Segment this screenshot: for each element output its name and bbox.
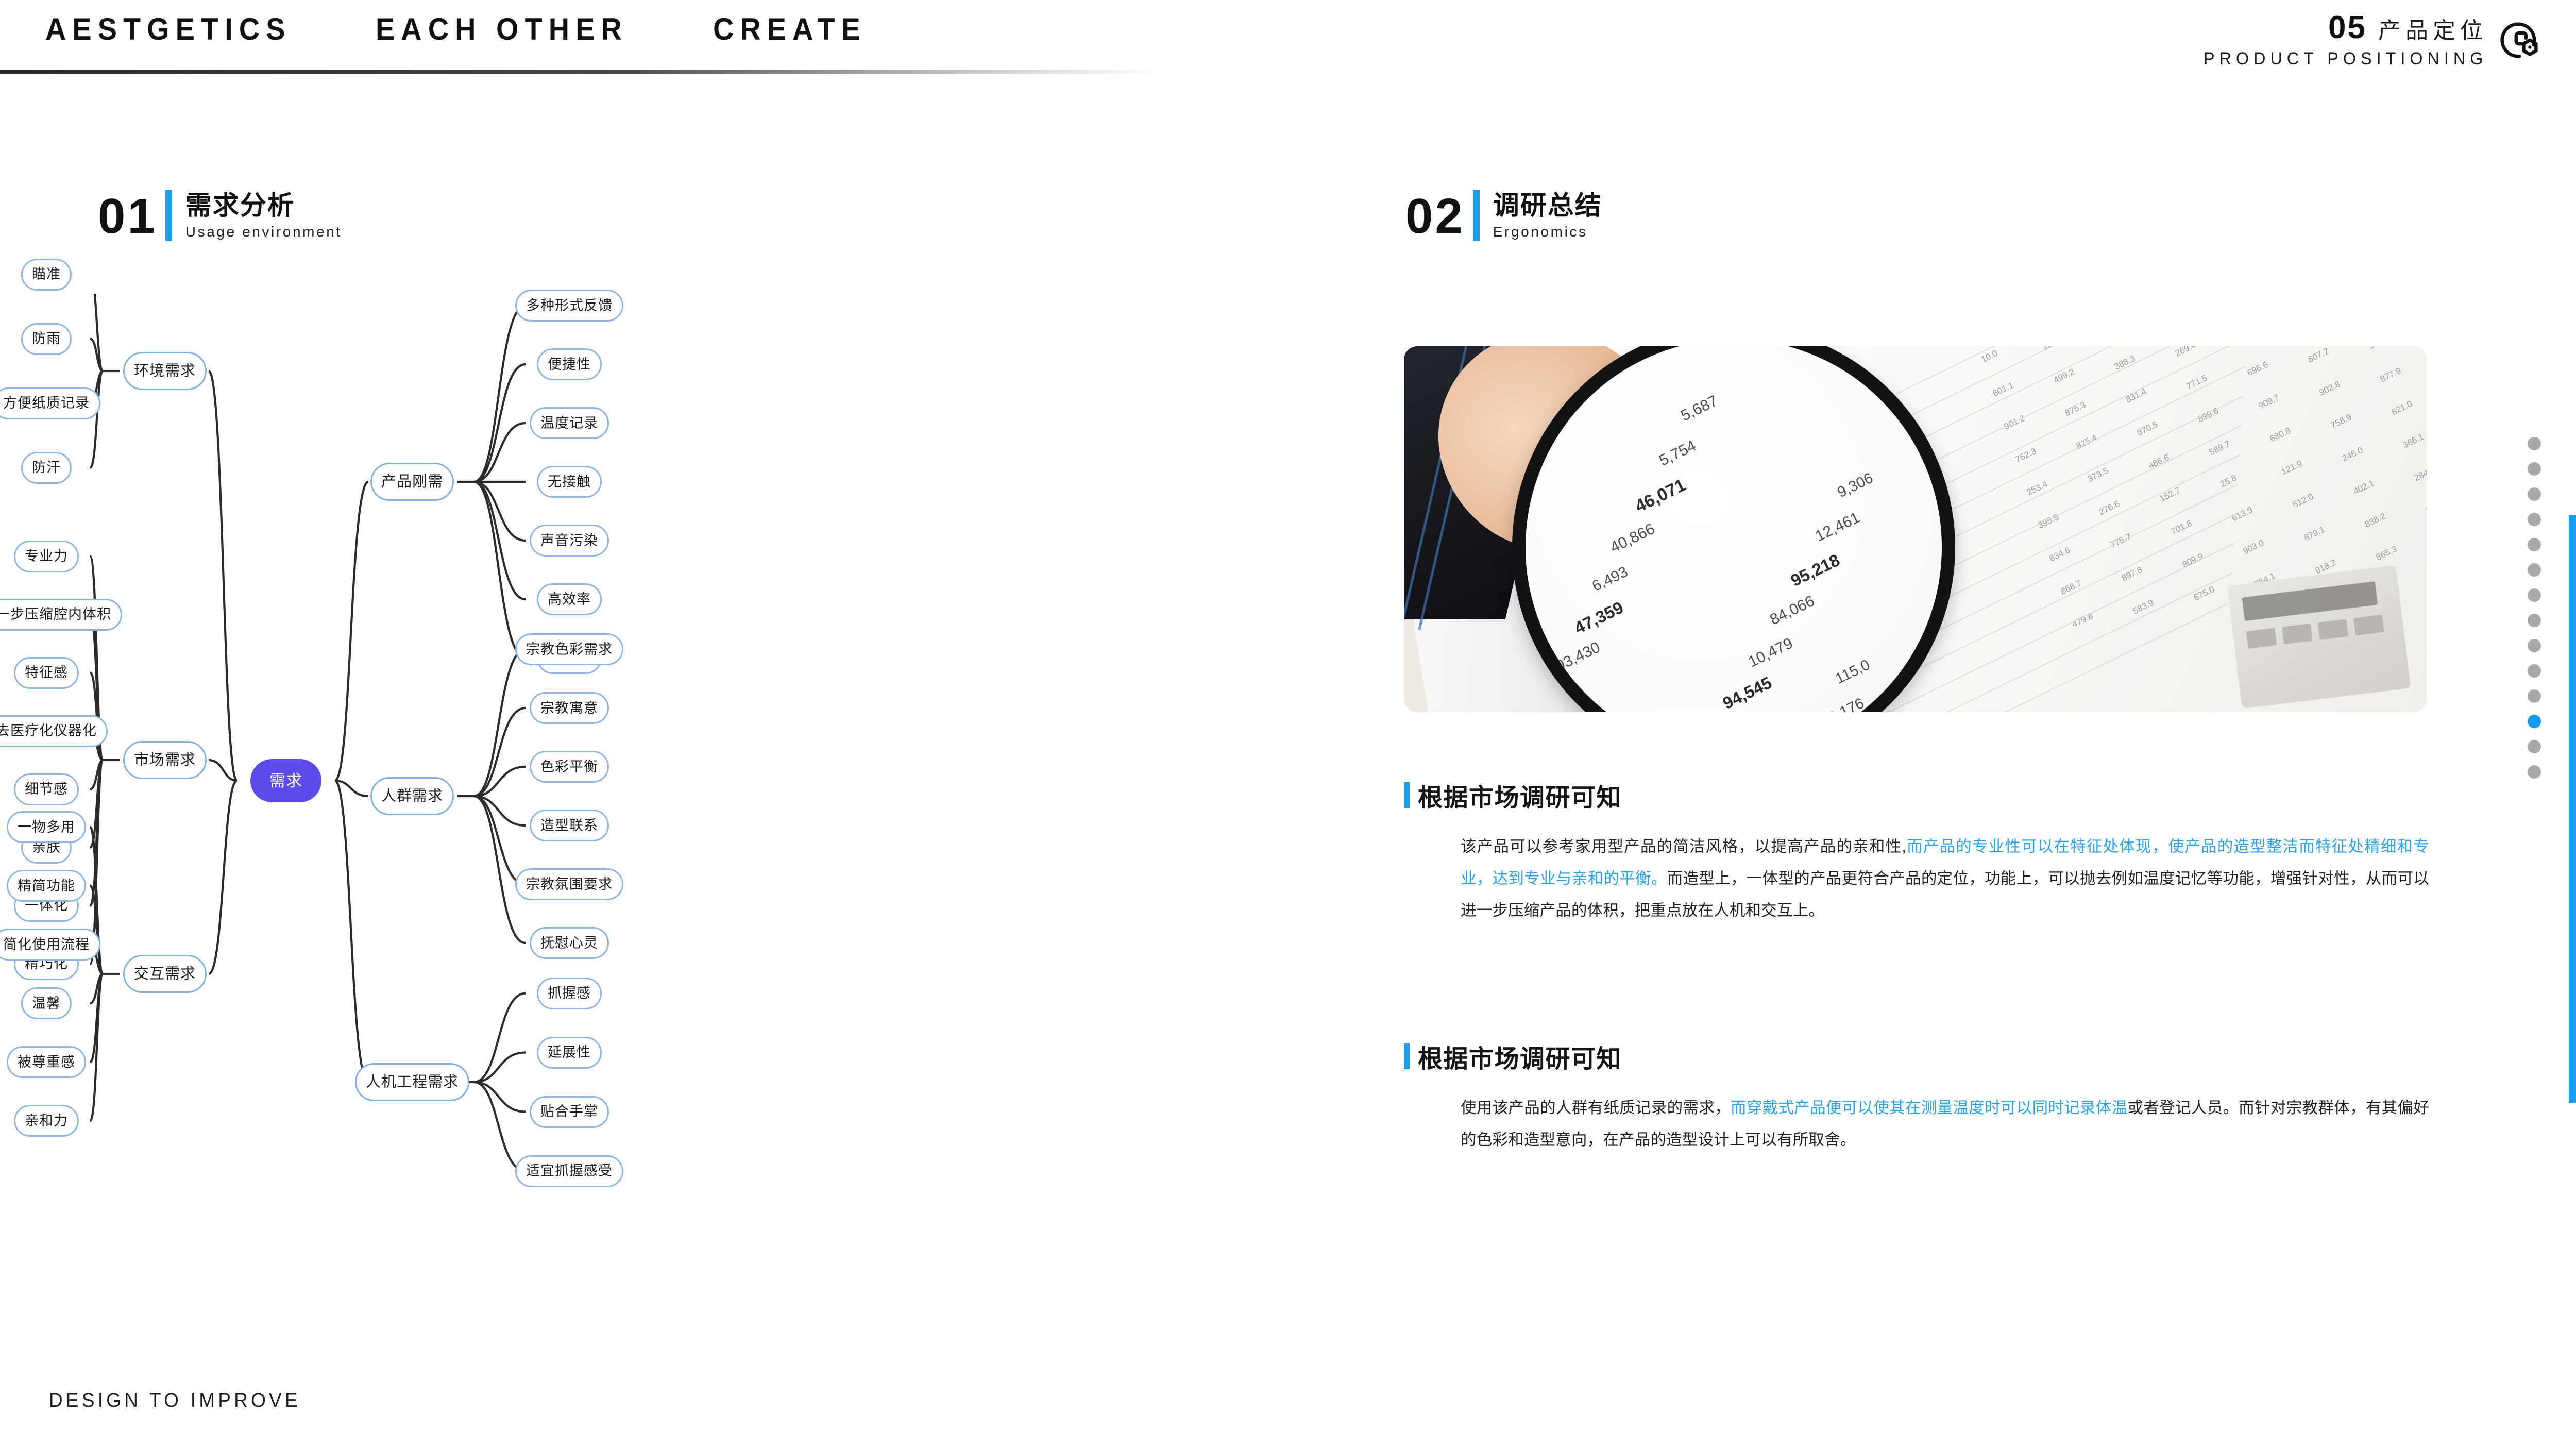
analysis-text-part: 该产品可以参考家用型产品的简洁风格，以提高产品的亲和性, [1461,838,1906,855]
footer-tagline: DESIGN TO IMPROVE [49,1390,301,1412]
mindmap-edge [474,1082,526,1171]
section-number-02: 02 [1405,190,1465,241]
mindmap-leaf-1-2[interactable]: 防雨 [21,323,72,355]
mindmap-leaf-6-3[interactable]: 贴合手掌 [530,1096,609,1128]
section-title-en-02: Ergonomics [1493,224,1602,240]
mindmap-leaf-6-2[interactable]: 延展性 [537,1037,602,1069]
mindmap-leaf-2-1[interactable]: 专业力 [14,541,79,572]
analysis-heading-2: 根据市场调研可知 [1404,1038,2429,1074]
photo-calculator [2227,565,2411,709]
mindmap-leaf-4-2[interactable]: 便捷性 [537,348,602,380]
section-header-02: 02 调研总结 Ergonomics [1405,190,1602,241]
nav-dot[interactable] [2528,664,2541,678]
photo-calculator-key [2318,619,2349,640]
photo-content: 10.0137.1261.2380.3492.4595.5685.6601.14… [1404,346,2427,712]
mindmap-leaf-4-5[interactable]: 声音污染 [530,525,609,557]
requirements-mindmap: 需求环境需求瞄准防雨方便纸质记录防汗市场需求专业力进一步压缩腔内体积特征感去医疗… [72,294,1309,1299]
mindmap-edge [474,482,526,658]
photo-number: 10,479 [1745,635,1795,671]
analysis-accent-bar-2 [1404,1043,1410,1069]
nav-dot[interactable] [2528,437,2541,450]
section-header-01: 01 需求分析 Usage environment [98,190,342,241]
photo-number: 40,866 [1607,520,1657,557]
mindmap-branch-3[interactable]: 交互需求 [123,955,207,993]
research-photo: 10.0137.1261.2380.3492.4595.5685.6601.14… [1404,346,2427,712]
brand-words: AESTGETICS EACH OTHER CREATE [45,11,878,47]
analysis-body-1: 该产品可以参考家用型产品的简洁风格，以提高产品的亲和性,而产品的专业性可以在特征… [1461,831,2429,927]
nav-dot[interactable] [2528,614,2541,627]
section-accent-bar-01 [165,190,172,241]
photo-number: 6,493 [1589,564,1631,595]
mindmap-leaf-2-4[interactable]: 去医疗化仪器化 [0,715,108,747]
mindmap-leaf-4-3[interactable]: 温度记录 [530,407,609,439]
mindmap-leaf-3-5[interactable]: 被尊重感 [7,1046,86,1078]
mindmap-leaf-4-4[interactable]: 无接触 [537,466,602,498]
analysis-block-2: 根据市场调研可知 使用该产品的人群有纸质记录的需求，而穿戴式产品便可以使其在测量… [1404,1038,2429,1156]
photo-number: 115,0 [1833,656,1873,688]
mindmap-edge [209,781,237,974]
mindmap-leaf-5-6[interactable]: 抚慰心灵 [530,927,609,959]
mindmap-edge [474,482,526,541]
section-title-cn-02: 调研总结 [1493,191,1602,220]
circle-hexagon-logo-icon [2497,15,2544,63]
photo-number: 5,754 [1656,437,1699,469]
mindmap-leaf-4-6[interactable]: 高效率 [537,583,602,615]
section-title-cn-01: 需求分析 [185,191,342,220]
mindmap-leaf-5-2[interactable]: 宗教寓意 [530,692,609,724]
chapter-number: 05 [2328,9,2367,46]
nav-dot[interactable] [2528,538,2541,551]
section-number-01: 01 [98,190,157,241]
mindmap-edge [474,423,526,482]
mindmap-leaf-2-2[interactable]: 进一步压缩腔内体积 [0,599,122,631]
brand-word-3: CREATE [713,11,867,47]
vertical-scrollbar[interactable] [2569,515,2576,1103]
nav-dot[interactable] [2528,462,2541,476]
photo-number: 9,306 [1835,470,1876,501]
nav-dot[interactable] [2528,487,2541,501]
mindmap-leaf-3-1[interactable]: 一物多用 [7,811,86,843]
chapter-label: 05 产品定位 PRODUCT POSITIONING [2189,9,2487,69]
photo-number: 12,461 [1812,509,1862,546]
photo-calculator-key [2246,628,2277,649]
nav-dot[interactable] [2528,639,2541,652]
mindmap-branch-5[interactable]: 人群需求 [370,777,454,815]
photo-magnifier-lens: 5,6875,75446,07140,8666,49347,35993,4307… [1512,346,1955,712]
mindmap-edge [90,974,103,1121]
nav-dot[interactable] [2528,513,2541,526]
mindmap-branch-6[interactable]: 人机工程需求 [355,1063,469,1101]
mindmap-leaf-3-3[interactable]: 简化使用流程 [0,929,100,961]
mindmap-leaf-5-4[interactable]: 造型联系 [530,810,609,841]
mindmap-leaf-1-1[interactable]: 瞄准 [21,259,72,291]
mindmap-leaf-6-4[interactable]: 适宜抓握感受 [515,1155,623,1187]
mindmap-leaf-5-5[interactable]: 宗教氛围要求 [515,868,623,900]
nav-dot[interactable] [2528,740,2541,753]
mindmap-edge [335,781,368,1082]
nav-dot-active[interactable] [2528,715,2541,728]
nav-dot[interactable] [2528,588,2541,602]
mindmap-branch-1[interactable]: 环境需求 [123,352,207,390]
mindmap-leaf-1-4[interactable]: 防汗 [21,452,72,484]
mindmap-leaf-6-1[interactable]: 抓握感 [537,978,602,1009]
mindmap-edge [474,993,526,1083]
mindmap-leaf-5-3[interactable]: 色彩平衡 [530,751,609,783]
mindmap-edge [474,306,526,482]
mindmap-edge [474,649,526,796]
photo-number: 84,066 [1767,593,1817,629]
mindmap-edge [209,371,237,781]
mindmap-leaf-4-1[interactable]: 多种形式反馈 [515,290,623,322]
photo-number: 109,176 [1811,695,1867,712]
mindmap-leaf-3-6[interactable]: 亲和力 [14,1105,79,1137]
nav-dot[interactable] [2528,689,2541,703]
brand-word-2: EACH OTHER [376,11,628,47]
photo-calculator-screen [2242,581,2378,621]
chapter-title-en: PRODUCT POSITIONING [2204,49,2487,69]
mindmap-leaf-1-3[interactable]: 方便纸质记录 [0,387,100,419]
photo-number: 47,359 [1571,598,1626,638]
photo-calculator-key [2282,624,2313,645]
photo-number: 95,218 [1788,550,1843,591]
mindmap-branch-2[interactable]: 市场需求 [123,741,207,779]
analysis-title-1: 根据市场调研可知 [1418,777,1622,813]
photo-calculator-key [2353,615,2384,636]
photo-number: 93,430 [1553,639,1603,676]
photo-number: 46,071 [1632,475,1689,517]
photo-number: 5,687 [1678,392,1720,425]
slide-canvas: AESTGETICS EACH OTHER CREATE 05 产品定位 PRO… [0,0,2576,1449]
section-accent-bar-02 [1473,190,1480,241]
mindmap-leaf-3-2[interactable]: 精简功能 [7,870,86,902]
chapter-title-cn: 产品定位 [2378,12,2487,45]
mindmap-edge [90,294,103,371]
mindmap-edge [474,796,526,943]
analysis-text-part: 而穿戴式产品便可以使其在测量温度时可以同时记录体温 [1731,1099,2128,1117]
analysis-block-1: 根据市场调研可知 该产品可以参考家用型产品的简洁风格，以提高产品的亲和性,而产品… [1404,777,2429,927]
mindmap-edge [335,482,368,781]
photo-number: 94,545 [1720,673,1775,712]
top-bar: AESTGETICS EACH OTHER CREATE 05 产品定位 PRO… [0,0,2576,82]
nav-dot[interactable] [2528,563,2541,577]
mindmap-leaf-3-4[interactable]: 温馨 [21,987,72,1019]
analysis-heading-1: 根据市场调研可知 [1404,777,2429,813]
analysis-accent-bar-1 [1404,782,1410,808]
analysis-body-2: 使用该产品的人群有纸质记录的需求，而穿戴式产品便可以使其在测量温度时可以同时记录… [1461,1092,2429,1156]
brand-word-1: AESTGETICS [45,11,291,47]
analysis-text-part: 使用该产品的人群有纸质记录的需求， [1461,1099,1731,1117]
mindmap-root-node[interactable]: 需求 [250,759,321,802]
analysis-title-2: 根据市场调研可知 [1418,1038,1622,1074]
header-divider-line [0,70,1162,74]
slide-navigation-dots[interactable] [2528,437,2541,779]
mindmap-branch-4[interactable]: 产品刚需 [370,463,454,501]
mindmap-leaf-5-1[interactable]: 宗教色彩需求 [515,633,623,665]
mindmap-leaf-2-5[interactable]: 细节感 [14,773,79,805]
nav-dot[interactable] [2528,765,2541,779]
mindmap-leaf-2-3[interactable]: 特征感 [14,657,79,689]
section-title-en-01: Usage environment [185,224,342,240]
